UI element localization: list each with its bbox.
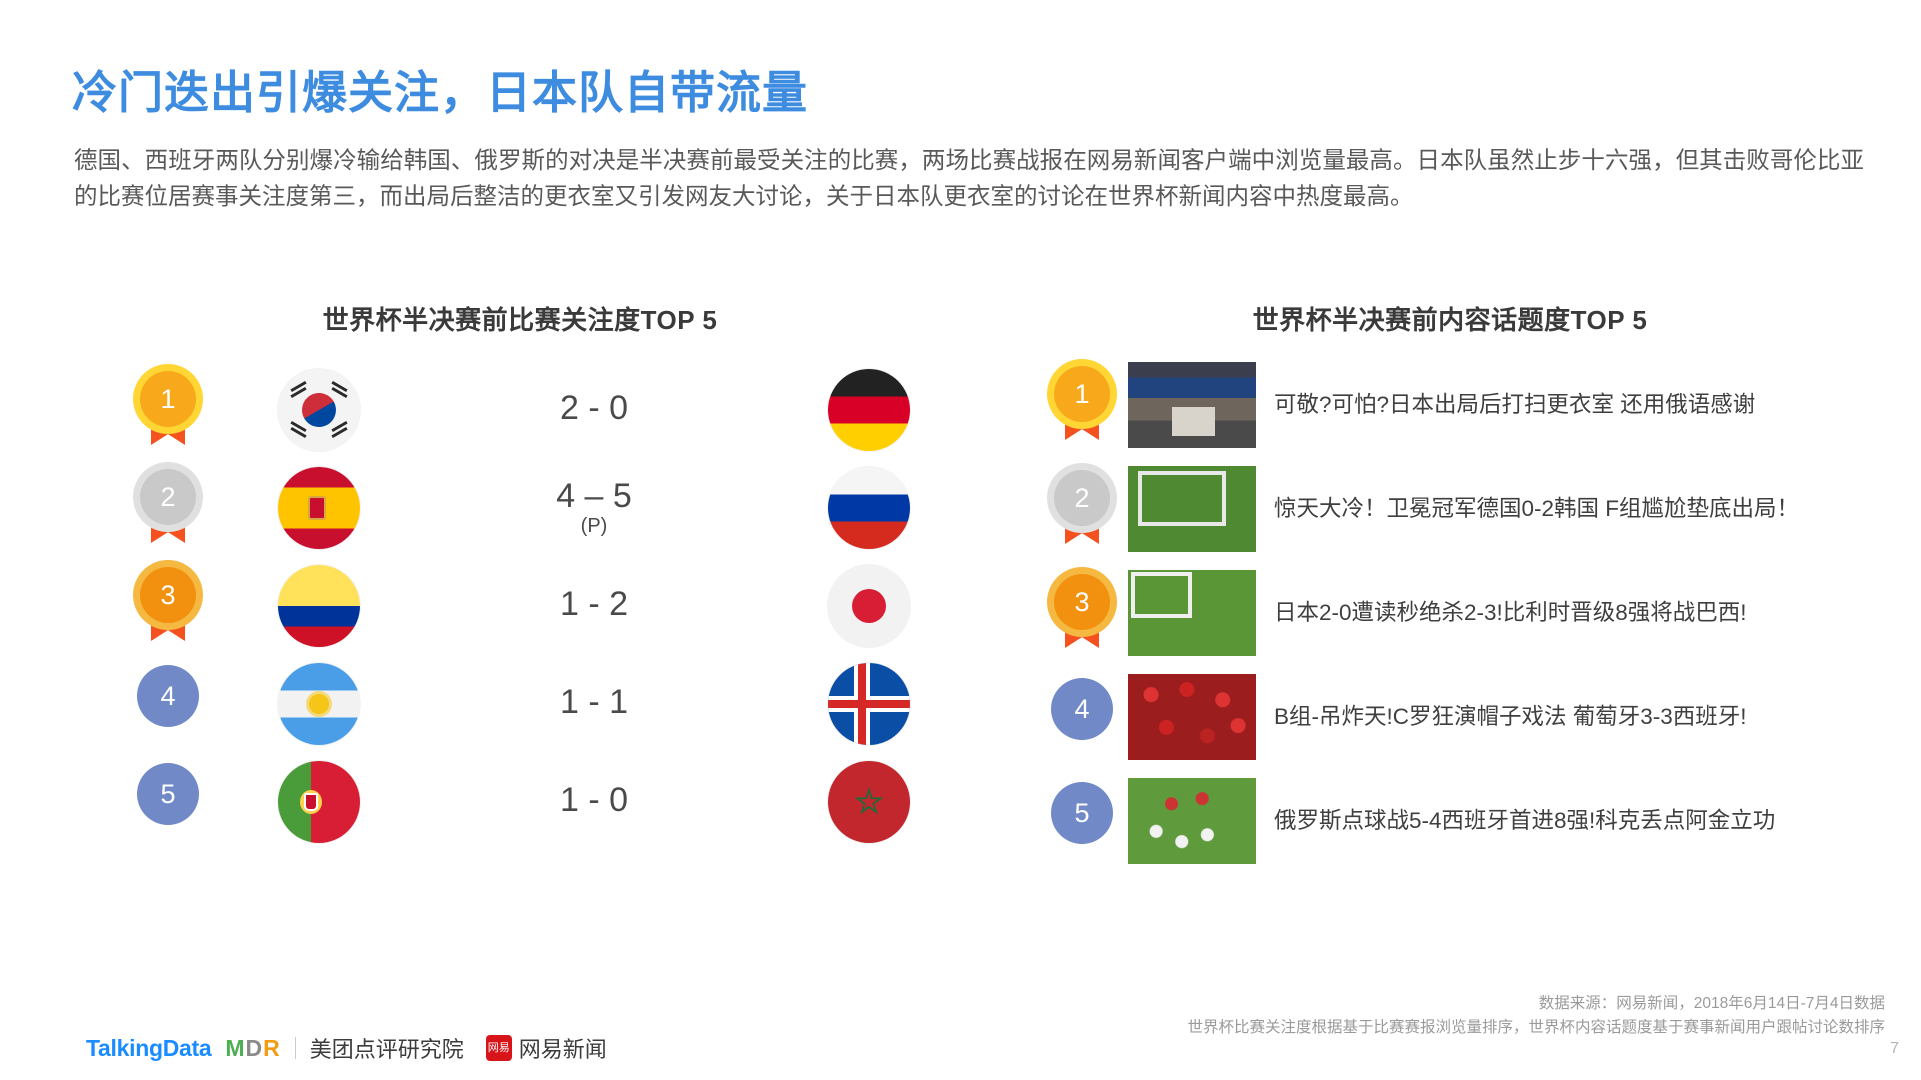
page-title: 冷门迭出引爆关注，日本队自带流量: [72, 56, 808, 121]
rank-number: 4: [1051, 678, 1113, 740]
flag-portugal-icon: [278, 761, 360, 843]
left-panel-heading: 世界杯半决赛前比赛关注度TOP 5: [90, 300, 950, 337]
news-headline[interactable]: 日本2-0遭读秒绝杀2-3!比利时晋级8强将战巴西!: [1274, 597, 1747, 629]
flag-south-korea-icon: [278, 369, 360, 451]
news-headline[interactable]: 惊天大冷！卫冕冠军德国0-2韩国 F组尴尬垫底出局！: [1274, 493, 1799, 525]
news-headline[interactable]: 俄罗斯点球战5-4西班牙首进8强!科克丢点阿金立功: [1274, 805, 1775, 837]
page-number: 7: [1890, 1040, 1899, 1058]
flag-argentina-icon: [278, 663, 360, 745]
news-thumbnail: [1128, 362, 1256, 448]
news-headline[interactable]: B组-吊炸天!C罗狂演帽子戏法 葡萄牙3-3西班牙!: [1274, 701, 1747, 733]
rank-number: 2: [140, 469, 196, 525]
rank-badge-1: 1: [136, 371, 200, 449]
news-headline[interactable]: 可敬?可怕?日本出局后打扫更衣室 还用俄语感谢: [1274, 389, 1755, 421]
rank-number: 1: [1054, 366, 1110, 422]
news-thumbnail: [1128, 778, 1256, 864]
rank-badge-4: 4: [136, 665, 200, 743]
flag-germany-icon: [828, 369, 910, 451]
news-thumbnail: [1128, 466, 1256, 552]
score-value: 4 – 5: [556, 477, 632, 515]
match-score: 1 - 2: [360, 587, 828, 625]
list-item[interactable]: 3 日本2-0遭读秒绝杀2-3!比利时晋级8强将战巴西!: [1050, 565, 1850, 661]
flag-colombia-icon: [278, 565, 360, 647]
flag-spain-icon: [278, 467, 360, 549]
match-attention-panel: 世界杯半决赛前比赛关注度TOP 5 1 2 - 0 2: [90, 300, 950, 851]
table-row: 5 1 - 0: [90, 753, 950, 851]
match-score: 2 - 0: [360, 391, 828, 429]
content-topic-panel: 世界杯半决赛前内容话题度TOP 5 1 可敬?可怕?日本出局后打扫更衣室 还用俄…: [1050, 300, 1850, 877]
flag-morocco-icon: [828, 761, 910, 843]
match-score: 1 - 1: [360, 685, 828, 723]
rank-number: 2: [1054, 470, 1110, 526]
rank-badge-5: 5: [136, 763, 200, 841]
rank-badge-2: 2: [136, 469, 200, 547]
rank-number: 3: [140, 567, 196, 623]
netease-icon: 网易: [486, 1035, 512, 1061]
score-value: 1 - 0: [560, 781, 628, 819]
meituan-research-logo: 美团点评研究院: [310, 1032, 464, 1064]
rank-badge-3: 3: [1050, 574, 1114, 652]
news-thumbnail: [1128, 570, 1256, 656]
rank-number: 5: [1051, 782, 1113, 844]
news-thumbnail: [1128, 674, 1256, 760]
rank-badge-5: 5: [1050, 782, 1114, 860]
netease-news-logo: 网易 网易新闻: [486, 1032, 607, 1064]
list-item[interactable]: 4 B组-吊炸天!C罗狂演帽子戏法 葡萄牙3-3西班牙!: [1050, 669, 1850, 765]
flag-japan-icon: [828, 565, 910, 647]
rank-number: 3: [1054, 574, 1110, 630]
mdr-letter-d: D: [246, 1035, 264, 1061]
table-row: 3 1 - 2: [90, 557, 950, 655]
source-line-2: 世界杯比赛关注度根据基于比赛赛报浏览量排序，世界杯内容话题度基于赛事新闻用户跟帖…: [1187, 1016, 1885, 1040]
score-value: 1 - 2: [560, 585, 628, 623]
rank-number: 4: [137, 665, 199, 727]
source-line-1: 数据来源：网易新闻，2018年6月14日-7月4日数据: [1187, 992, 1885, 1016]
right-panel-heading: 世界杯半决赛前内容话题度TOP 5: [1050, 300, 1850, 337]
mdr-logo: MDR: [225, 1035, 280, 1062]
table-row: 2 4 – 5 (P): [90, 459, 950, 557]
mdr-letter-r: R: [263, 1035, 281, 1061]
score-value: 2 - 0: [560, 389, 628, 427]
talkingdata-logo: TalkingData: [86, 1035, 211, 1062]
netease-label: 网易新闻: [519, 1032, 607, 1064]
logo-divider: [295, 1037, 296, 1059]
score-value: 1 - 1: [560, 683, 628, 721]
list-item[interactable]: 1 可敬?可怕?日本出局后打扫更衣室 还用俄语感谢: [1050, 357, 1850, 453]
table-row: 4 1 - 1: [90, 655, 950, 753]
rank-number: 1: [140, 371, 196, 427]
match-score: 1 - 0: [360, 783, 828, 821]
match-score: 4 – 5 (P): [360, 479, 828, 538]
list-item[interactable]: 2 惊天大冷！卫冕冠军德国0-2韩国 F组尴尬垫底出局！: [1050, 461, 1850, 557]
list-item[interactable]: 5 俄罗斯点球战5-4西班牙首进8强!科克丢点阿金立功: [1050, 773, 1850, 869]
rank-badge-3: 3: [136, 567, 200, 645]
page-description: 德国、西班牙两队分别爆冷输给韩国、俄罗斯的对决是半决赛前最受关注的比赛，两场比赛…: [74, 142, 1864, 214]
rank-badge-1: 1: [1050, 366, 1114, 444]
data-source-note: 数据来源：网易新闻，2018年6月14日-7月4日数据 世界杯比赛关注度根据基于…: [1187, 992, 1885, 1040]
rank-badge-4: 4: [1050, 678, 1114, 756]
score-note: (P): [360, 516, 828, 537]
flag-iceland-icon: [828, 663, 910, 745]
logo-bar: TalkingData MDR 美团点评研究院 网易 网易新闻: [86, 1032, 607, 1064]
table-row: 1 2 - 0: [90, 361, 950, 459]
flag-russia-icon: [828, 467, 910, 549]
mdr-letter-m: M: [225, 1035, 245, 1061]
rank-badge-2: 2: [1050, 470, 1114, 548]
rank-number: 5: [137, 763, 199, 825]
